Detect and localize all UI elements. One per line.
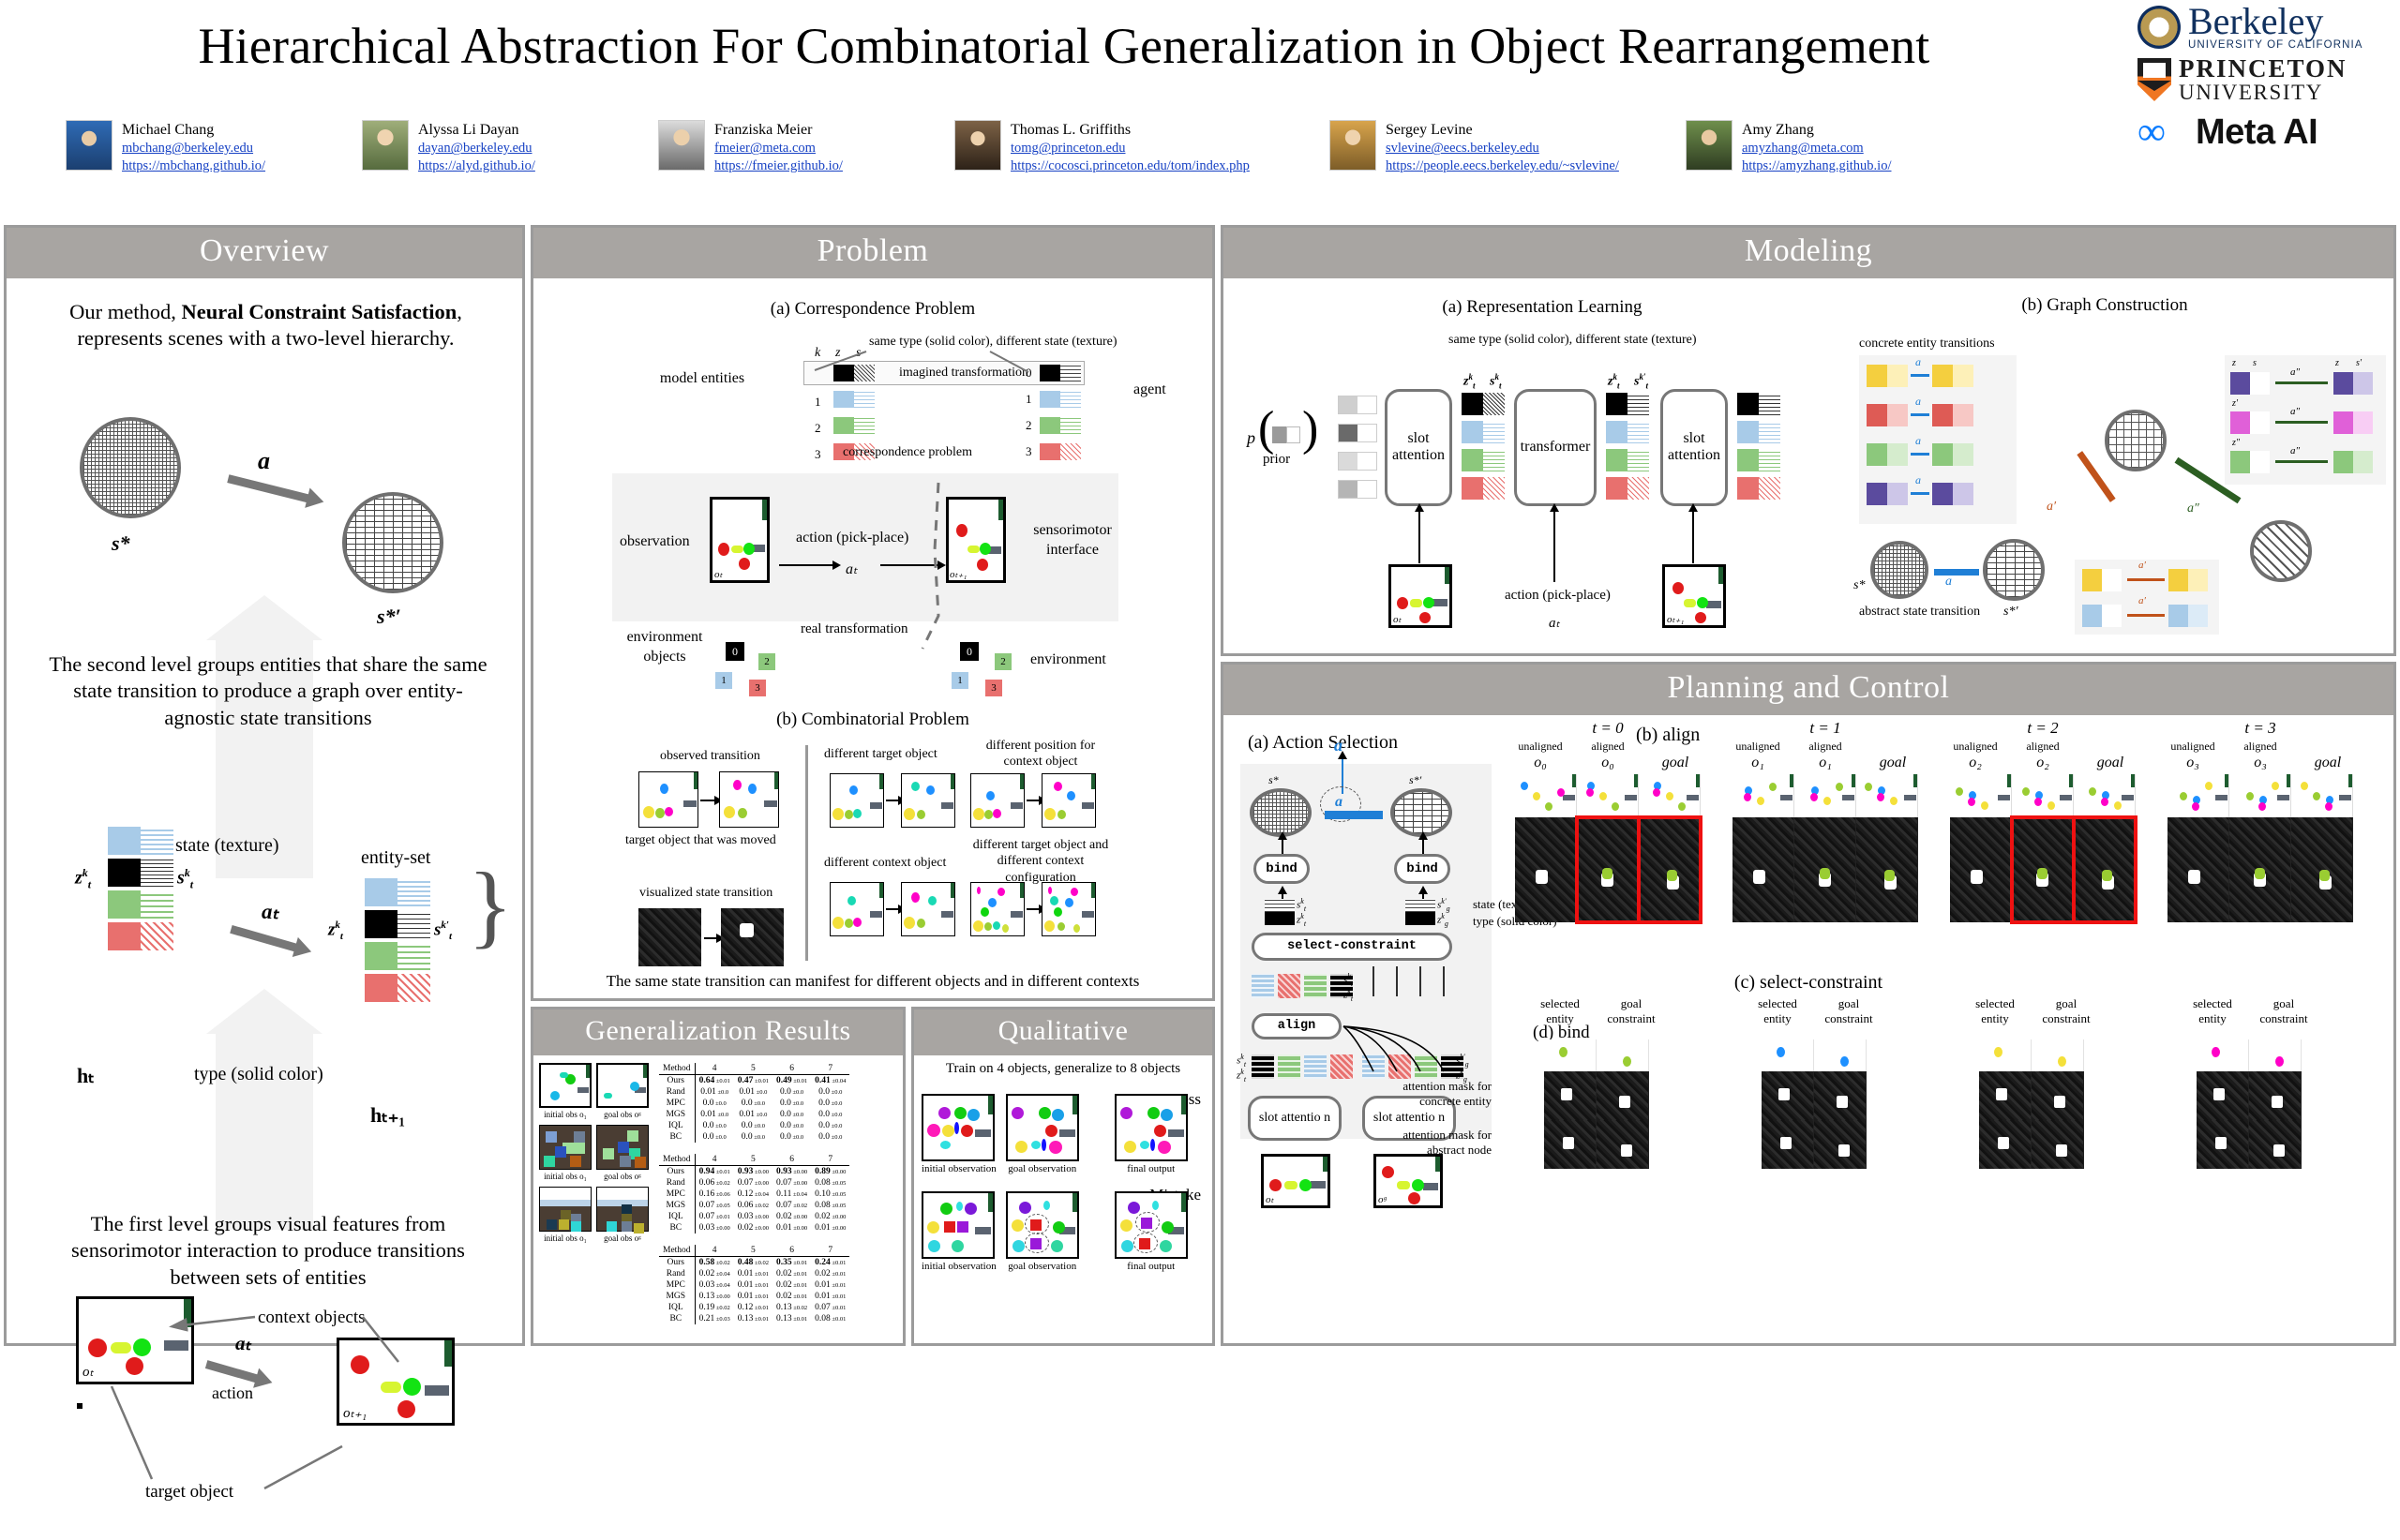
panel-problem-heading: Problem [533,228,1212,278]
entity-chip [1462,421,1505,443]
modeling-same-type-note: same type (solid color), different state… [1448,333,1696,348]
results-col-header: 4 [695,1154,734,1166]
problem-caption-bottom: The same state transition can manifest f… [533,972,1212,991]
bind-box-right: bind [1394,854,1450,884]
results-value-cell: 0.11 ±0.04 [772,1189,811,1200]
caption-goal: goal obs oᵍ [596,1233,649,1243]
goal-constraint-label: goal constraint [1598,996,1664,1027]
mask-abstract-label: attention mask for abstract node [1381,1128,1492,1159]
align-attention-mask [2167,817,2229,922]
caption-goal: goal obs oᵍ [596,1172,649,1181]
results-col-header: 7 [811,1063,849,1075]
observation-image-ot: oₜ [76,1296,194,1384]
entity-chip [365,878,430,906]
results-method-cell: MGS [659,1200,695,1211]
action-a-mid: a [1335,794,1342,811]
princeton-subtitle: UNIVERSITY [2179,82,2347,103]
problem-sub-b: (b) Combinatorial Problem [533,710,1212,730]
results-method-cell: Ours [659,1165,695,1177]
row-index-3-right: 3 [1026,444,1032,459]
state-type-chip-left [1265,899,1295,925]
panel-qualitative: Qualitative Train on 4 objects, generali… [911,1007,1215,1346]
scene-observed-after [719,771,779,828]
results-value-cell: 0.07 ±0.01 [811,1302,849,1313]
obs-g-label-plan: oᵍ [1378,1194,1387,1205]
vertical-divider [805,745,808,961]
scene-initial-observation [922,1094,995,1161]
results-value-cell: 0.12 ±0.04 [734,1189,772,1200]
princeton-wordmark: PRINCETON [2179,56,2347,82]
align-scene [1732,774,1794,817]
results-value-cell: 0.07 ±0.00 [734,1177,772,1189]
table-row: Ours0.94 ±0.010.93 ±0.000.93 ±0.000.89 ±… [659,1165,849,1177]
results-col-header: 5 [734,1063,772,1075]
table-row: MGS0.13 ±0.000.01 ±0.010.02 ±0.010.01 ±0… [659,1291,849,1302]
context-objects-label: context objects [258,1308,366,1328]
goal-constraint-label: goal constraint [2251,996,2317,1027]
overview-first-level-text: The first level groups visual features f… [38,1211,498,1292]
author-entry: Alyssa Li Dayan dayan@berkeley.edu https… [362,120,658,175]
transition-arrow [227,474,311,503]
up-arrow-head [206,989,322,1034]
align-col-header: unaligned [1946,740,2004,754]
scene-goal-1 [596,1063,649,1108]
berkeley-wordmark: Berkeley [2188,4,2363,39]
abstract-node-s-star-prime-plan [1390,788,1452,837]
selected-entity-scene [2197,1039,2249,1071]
observation-image-ot1-modeling: oₜ₊₁ [1662,564,1726,628]
attention-mask-abstract [2249,1120,2302,1169]
planning-sub-a: (a) Action Selection [1248,732,1398,754]
results-value-cell: 0.07 ±0.01 [695,1211,734,1222]
align-obs-label: goal [1864,755,1922,771]
avatar [66,120,112,171]
graph-transitions-bottom: a′ a′ [2075,560,2219,635]
qual-cell: initial observation [922,1094,997,1174]
col-z-p: z [2335,358,2339,368]
action-label-a: a [258,447,270,475]
arrow-to-action [779,564,833,566]
selected-entity-label: selected entity [1747,996,1808,1027]
entity-chip [1606,477,1649,500]
paren-right: ) [1302,410,1318,449]
table-row: Ours0.64 ±0.010.47 ±0.010.49 ±0.010.41 ±… [659,1074,849,1086]
table-row: BC0.03 ±0.000.02 ±0.000.01 ±0.000.01 ±0.… [659,1222,849,1233]
real-transformation-label: real transformation [801,621,908,637]
action-at-modeling: aₜ [1549,614,1560,632]
planning-sub-c: (c) select-constraint [1223,972,2393,994]
obs-t-label: oₜ [714,568,723,580]
results-value-cell: 0.07 ±0.00 [772,1177,811,1189]
berkeley-logo: Berkeley UNIVERSITY OF CALIFORNIA [2137,4,2391,51]
results-col-header: 5 [734,1154,772,1166]
scene-goal-observation [1006,1094,1079,1161]
abstract-node-right [2250,520,2312,582]
results-method-cell: Ours [659,1074,695,1086]
author-website-link[interactable]: https://amyzhang.github.io/ [1742,157,1892,175]
select-constraint-group: selected entitygoal constraint [1930,996,2133,1170]
table-row: Rand0.02 ±0.040.01 ±0.010.02 ±0.010.02 ±… [659,1268,849,1279]
timestep-label: t = 1 [1722,719,1928,738]
align-col-header: unaligned [1511,740,1569,754]
edge-label: a″ [2290,366,2300,378]
author-name: Franziska Meier [714,121,843,140]
s-g-k-plan: sk′g [1437,897,1450,913]
results-value-cell: 0.06 ±0.02 [695,1177,734,1189]
abstract-state-circle-start [80,417,181,518]
type-color-legend: type (solid color) [194,1064,323,1085]
timestep-label: t = 3 [2157,719,2363,738]
s-star-prime-label-graph: s*′ [2003,605,2018,620]
env-object-0-right: 0 [960,642,979,661]
entity-chip [365,974,430,1002]
action-pick-place-label: action (pick-place) [796,530,908,546]
meta-ai-logo: ∞ Meta AI [2137,112,2391,153]
sensorimotor-interface-label: sensorimotor interface [1021,520,1124,561]
results-value-cell: 0.64 ±0.01 [695,1074,734,1086]
select-constraint-group: selected entitygoal constraint [2148,996,2350,1170]
table-row: MPC0.03 ±0.040.01 ±0.010.02 ±0.010.01 ±0… [659,1279,849,1291]
attention-mask-concrete [2032,1071,2084,1120]
env-object-1-right: 1 [952,672,968,689]
variant-2-label: different position for context object [980,738,1102,770]
target-object-label: target object [145,1482,233,1503]
obs-t1-label: oₜ₊₁ [1667,613,1684,625]
s-star-prime-label-plan: s*′ [1409,773,1421,787]
environment-objects-label: environment objects [613,627,716,667]
observation-image-ot1: oₜ₊₁ [337,1338,455,1426]
results-method-cell: IQL [659,1120,695,1131]
author-website-link[interactable]: https://cocosci.princeton.edu/tom/index.… [1011,157,1250,175]
author-list: Michael Chang mbchang@berkeley.edu https… [66,120,2137,175]
col-s: s [2253,358,2257,368]
avatar [954,120,1001,171]
attention-mask-abstract [1979,1120,2032,1169]
author-email-link[interactable]: tomg@princeton.edu [1011,140,1250,157]
select-constraint-group: selected entitygoal constraint [1495,996,1698,1170]
results-method-cell: IQL [659,1211,695,1222]
align-attention-mask [1856,817,1918,922]
entity-chip-1-left [833,391,875,408]
variant-3-label: different context object [824,856,946,871]
selected-entity-scene [1762,1039,1814,1071]
select-constraint-box: select-constraint [1252,933,1452,961]
panel-problem: Problem (a) Correspondence Problem k z s… [531,225,1215,1001]
edge-label: a″ [2290,445,2300,456]
results-value-cell: 0.01 ±0.01 [734,1291,772,1302]
results-value-cell: 0.0 ±0.0 [811,1098,849,1109]
results-method-cell: MGS [659,1291,695,1302]
col-s-prime: s′ [2356,358,2362,368]
author-name: Amy Zhang [1742,121,1892,140]
results-table: Method4567Ours0.58 ±0.020.48 ±0.020.35 ±… [659,1245,849,1324]
entity-chip-0-right [1040,365,1081,381]
qual-caption: initial observation [922,1163,997,1174]
align-column-headers: unalignedaligned [1940,740,2146,754]
entity-set-brace: } [468,869,513,942]
author-email-link[interactable]: amyzhang@meta.com [1742,140,1892,157]
results-value-cell: 0.02 ±0.01 [772,1268,811,1279]
author-email-link[interactable]: svlevine@eecs.berkeley.edu [1386,140,1619,157]
author-website-link[interactable]: https://fmeier.github.io/ [714,157,843,175]
results-method-cell: MGS [659,1109,695,1120]
qual-caption: goal observation [1006,1163,1079,1174]
results-value-cell: 0.13 ±0.00 [695,1291,734,1302]
qual-caption: goal observation [1006,1261,1079,1272]
panel-planning-heading: Planning and Control [1223,665,2393,715]
qual-caption: final output [1115,1261,1188,1272]
align-timestep-group: t = 2unalignedalignedo₂o₂goal [1940,719,2146,922]
results-method-cell: MPC [659,1279,695,1291]
entity-chip [365,942,430,970]
arrow-obs1-to-slot [1692,511,1694,563]
visualized-state-label: visualized state transition [639,886,772,901]
action-pick-place-modeling: action (pick-place) [1505,588,1611,604]
z-variant: z′ [2232,398,2238,409]
attention-mask-concrete [1597,1071,1649,1120]
panel-planning-control: Planning and Control (a) Action Selectio… [1221,662,2396,1346]
results-method-cell: BC [659,1131,695,1143]
edge-label-a: a [1915,355,1921,369]
results-table: Method4567Ours0.94 ±0.010.93 ±0.000.93 ±… [659,1154,849,1233]
align-obs-label: o₁ [1729,755,1787,771]
align-attention-mask [2074,817,2136,922]
results-value-cell: 0.0 ±0.0 [772,1131,811,1143]
edge-a-arrow [1934,569,1979,576]
scene-initial-1 [539,1063,592,1108]
author-website-link[interactable]: https://people.eecs.berkeley.edu/~svlevi… [1386,157,1619,175]
attention-mask-abstract [1544,1120,1597,1169]
qual-caption: final output [1115,1163,1188,1174]
state-texture-legend: state (texture) [175,835,279,857]
s-t-k-label: skt [177,866,193,892]
results-value-cell: 0.0 ±0.0 [734,1098,772,1109]
author-name: Michael Chang [122,121,265,140]
entity-chip-stack-right [365,878,430,1002]
align-obs-label: o₂ [1946,755,2004,771]
results-value-cell: 0.13 ±0.01 [734,1313,772,1324]
entity-chip [1737,477,1780,500]
results-value-cell: 0.03 ±0.04 [695,1279,734,1291]
results-value-cell: 0.21 ±0.03 [695,1313,734,1324]
method-name: Neural Constraint Satisfaction [181,300,457,323]
scene-goal-3 [596,1187,649,1232]
entity-chip [1462,477,1505,500]
transformer-box: transformer [1514,389,1597,506]
meta-wordmark: Meta AI [2196,112,2317,153]
entity-chip [1606,449,1649,471]
edge-label-a-prime: a′ [2047,500,2056,515]
results-value-cell: 0.0 ±0.0 [811,1131,849,1143]
results-value-cell: 0.19 ±0.02 [695,1302,734,1313]
align-timestep-group: t = 1unalignedalignedo₁o₁goal [1722,719,1928,922]
table-row: Rand0.01 ±0.00.01 ±0.00.0 ±0.00.0 ±0.0 [659,1086,849,1098]
author-entry: Michael Chang mbchang@berkeley.edu https… [66,120,362,175]
results-value-cell: 0.0 ±0.0 [734,1131,772,1143]
entity-chip [1737,421,1780,443]
author-email-link[interactable]: dayan@berkeley.edu [418,140,535,157]
transition-arrow-plan [1325,811,1383,819]
results-value-cell: 0.01 ±0.0 [695,1086,734,1098]
obs-t1-label: oₜ₊₁ [343,1404,367,1422]
results-value-cell: 0.0 ±0.0 [811,1120,849,1131]
results-value-cell: 0.0 ±0.0 [772,1120,811,1131]
results-col-header: Method [659,1245,695,1257]
results-value-cell: 0.01 ±0.01 [734,1279,772,1291]
variant-scene [970,882,1025,936]
overview-intro: Our method, Neural Constraint Satisfacti… [29,299,502,353]
panel-overview-heading: Overview [7,228,522,278]
scene-observed-before [638,771,698,828]
panel-qualitative-heading: Qualitative [914,1009,1212,1055]
results-method-cell: Rand [659,1086,695,1098]
edge-label-a: a [1915,473,1921,487]
results-value-cell: 0.08 ±0.05 [811,1177,849,1189]
arrow-from-action [880,564,938,566]
state-type-chip-right [1405,899,1435,925]
z-g-k-plan: zkg [1437,912,1448,928]
caption-initial: initial obs o₁ [539,1110,592,1119]
arrow-obs-to-slot [1418,511,1420,563]
attention-mask-abstract [1597,1120,1649,1169]
results-value-cell: 0.01 ±0.01 [734,1268,772,1279]
results-value-cell: 0.10 ±0.05 [811,1189,849,1200]
attention-mask-concrete [2249,1071,2302,1120]
poster-header: Hierarchical Abstraction For Combinatori… [0,0,2400,223]
align-timestep-group: t = 3unalignedalignedo₃o₃goal [2157,719,2363,922]
select-constraint-group: selected entitygoal constraint [1713,996,1915,1170]
panel-modeling: Modeling (a) Representation Learning sam… [1221,225,2396,656]
attention-mask-concrete [1979,1071,2032,1120]
attention-mask-concrete [1814,1071,1867,1120]
align-obs-label: o₃ [2231,755,2289,771]
author-website-link[interactable]: https://alyd.github.io/ [418,157,535,175]
align-obs-label: o₂ [2014,755,2072,771]
author-name: Thomas L. Griffiths [1011,121,1250,140]
entity-chip [1462,449,1505,471]
results-tables: Method4567Ours0.64 ±0.010.47 ±0.010.49 ±… [659,1063,897,1336]
col-header-s: s [856,346,861,361]
entity-chip-1-right [1040,391,1081,408]
align-scene [1577,774,1639,817]
results-col-header: 6 [772,1063,811,1075]
results-value-cell: 0.24 ±0.01 [811,1256,849,1268]
results-value-cell: 0.01 ±0.0 [734,1086,772,1098]
arrow-action-to-transformer [1553,511,1555,582]
slot-attention-box-left: slot attentio n [1248,1096,1342,1141]
selected-entity-scene [1597,1039,1649,1071]
align-timesteps: t = 0unalignedalignedo₀o₀goalt = 1unalig… [1505,719,2386,963]
s-star-label-graph: s* [1853,578,1865,593]
state-label-s-star-prime: s*′ [377,605,401,629]
action-text-label: action [212,1383,253,1403]
edge-label: a′ [2138,595,2146,606]
align-attention-mask [2229,817,2291,922]
results-col-header: 7 [811,1154,849,1166]
scene-final-output [1115,1094,1188,1161]
modeling-sub-b: (b) Graph Construction [1823,295,2386,316]
abstract-state-circle-end [342,492,443,593]
state-label-s-star: s* [112,531,130,556]
correspondence-problem-label: correspondence problem [843,445,972,460]
results-method-cell: BC [659,1313,695,1324]
panel-generalization-results: Generalization Results [531,1007,906,1346]
berkeley-subtitle: UNIVERSITY OF CALIFORNIA [2188,39,2363,51]
author-entry: Thomas L. Griffiths tomg@princeton.edu h… [954,120,1329,175]
entity-set-label: entity-set [361,847,430,869]
align-col-header: aligned [2014,740,2072,754]
model-entities-label: model entities [646,368,758,389]
caption-initial: initial obs o₁ [539,1233,592,1243]
panel-modeling-heading: Modeling [1223,228,2393,278]
results-value-cell: 0.0 ±0.0 [695,1098,734,1109]
align-column-headers: unalignedaligned [1722,740,1928,754]
results-value-cell: 0.02 ±0.00 [772,1211,811,1222]
selected-entity-scene [2032,1039,2084,1071]
entity-chip [1737,393,1780,415]
selected-entity-scene [2249,1039,2302,1071]
selected-entity-label: selected entity [1964,996,2026,1027]
results-col-header: 4 [695,1063,734,1075]
action-at-label: aₜ [262,900,278,924]
entity-chip-row-right [1362,1054,1463,1079]
results-value-cell: 0.0 ±0.0 [772,1086,811,1098]
results-value-cell: 0.0 ±0.0 [811,1086,849,1098]
results-value-cell: 0.49 ±0.01 [772,1074,811,1086]
results-value-cell: 0.02 ±0.01 [811,1268,849,1279]
align-obs-label: o₁ [1796,755,1854,771]
align-col-header: aligned [2231,740,2289,754]
results-value-cell: 0.0 ±0.0 [772,1098,811,1109]
align-col-header [1864,740,1922,754]
panel-overview: Overview Our method, Neural Constraint S… [4,225,525,1346]
table-row: MPC0.0 ±0.00.0 ±0.00.0 ±0.00.0 ±0.0 [659,1098,849,1109]
observed-transition-label: observed transition [660,749,760,764]
author-email-link[interactable]: fmeier@meta.com [714,140,843,157]
genres-image-column: initial obs o₁ goal obs oᵍ [539,1063,652,1336]
attention-mask-concrete [2197,1071,2249,1120]
variant-scene [901,773,955,828]
align-box: align [1252,1013,1342,1039]
qual-cell: goal observation [1006,1191,1079,1272]
align-obs-label: o₀ [1579,755,1637,771]
entity-chip [108,922,173,950]
align-attention-mask [1732,817,1794,922]
princeton-logo: PRINCETON UNIVERSITY [2137,56,2391,103]
z-t-k-label: zkt [75,866,91,892]
env-object-2-right: 2 [995,653,1012,670]
z-variant: z″ [2232,438,2240,448]
entity-chip [1737,449,1780,471]
slot-attention-box-1: slot attention [1385,389,1452,506]
entity-chip [108,890,173,919]
variant-4-label: different target object and different co… [970,837,1111,887]
align-scene [1639,774,1701,817]
align-col-header [2299,740,2357,754]
align-attention-mask [2291,817,2353,922]
observation-image-ot-plan: oₜ [1261,1154,1330,1208]
results-value-cell: 0.01 ±0.0 [695,1109,734,1120]
col-header-k: k [815,346,820,361]
entity-chip [108,859,173,887]
environment-label: environment [1030,651,1106,668]
scene-initial-3 [539,1187,592,1232]
results-method-cell: Rand [659,1268,695,1279]
prior-label: prior [1263,452,1290,468]
author-website-link[interactable]: https://mbchang.github.io/ [122,157,265,175]
s-t-k-prime-modeling: sk′t [1634,372,1648,390]
author-email-link[interactable]: mbchang@berkeley.edu [122,140,265,157]
